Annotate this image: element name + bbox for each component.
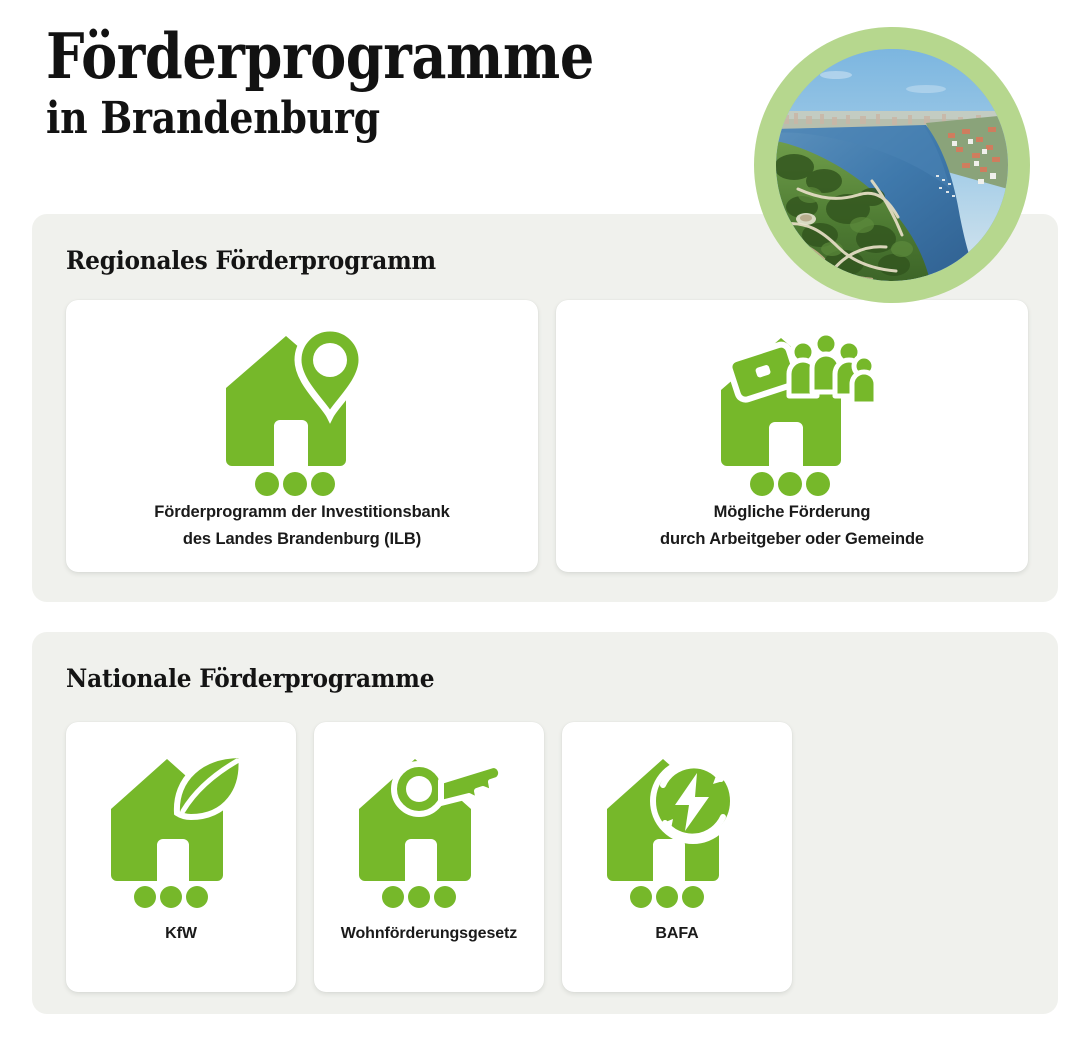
- house-energy-bolt-icon: [601, 748, 753, 913]
- card-label-employer-municipality: Mögliche Förderung durch Arbeitgeber ode…: [556, 499, 1028, 552]
- card-label-line2: durch Arbeitgeber oder Gemeinde: [570, 526, 1014, 553]
- section-national: Nationale Förderprogramme: [32, 632, 1058, 1014]
- card-ilb[interactable]: Förderprogramm der Investitionsbank des …: [66, 300, 538, 572]
- aerial-photo: [776, 49, 1008, 281]
- infographic-page: Förderprogramme in Brandenburg: [0, 0, 1090, 1058]
- house-location-pin-icon: [222, 324, 382, 499]
- section-title-regional: Regionales Förderprogramm: [66, 246, 436, 275]
- house-leaf-icon: [105, 748, 257, 913]
- card-label-line1: Mögliche Förderung: [570, 499, 1014, 526]
- card-list-national: KfW: [66, 722, 792, 992]
- page-title: Förderprogramme: [46, 24, 665, 88]
- photo-circle-ring: [754, 27, 1030, 303]
- card-kfw[interactable]: KfW: [66, 722, 296, 992]
- card-employer-municipality[interactable]: Mögliche Förderung durch Arbeitgeber ode…: [556, 300, 1028, 572]
- section-title-national: Nationale Förderprogramme: [66, 664, 434, 693]
- card-label-kfw: KfW: [66, 921, 296, 947]
- card-label-wohnfoerderungsgesetz: Wohnförderungsgesetz: [314, 921, 544, 947]
- card-list-regional: Förderprogramm der Investitionsbank des …: [66, 300, 1028, 572]
- page-subtitle: in Brandenburg: [46, 96, 665, 142]
- card-wohnfoerderungsgesetz[interactable]: Wohnförderungsgesetz: [314, 722, 544, 992]
- card-bafa[interactable]: BAFA: [562, 722, 792, 992]
- house-key-icon: [353, 748, 505, 913]
- card-label-ilb: Förderprogramm der Investitionsbank des …: [66, 499, 538, 552]
- card-label-bafa: BAFA: [562, 921, 792, 947]
- page-header: Förderprogramme in Brandenburg: [46, 24, 766, 142]
- house-briefcase-people-icon: [707, 324, 877, 499]
- card-label-line2: des Landes Brandenburg (ILB): [80, 526, 524, 553]
- card-label-line1: Förderprogramm der Investitionsbank: [80, 499, 524, 526]
